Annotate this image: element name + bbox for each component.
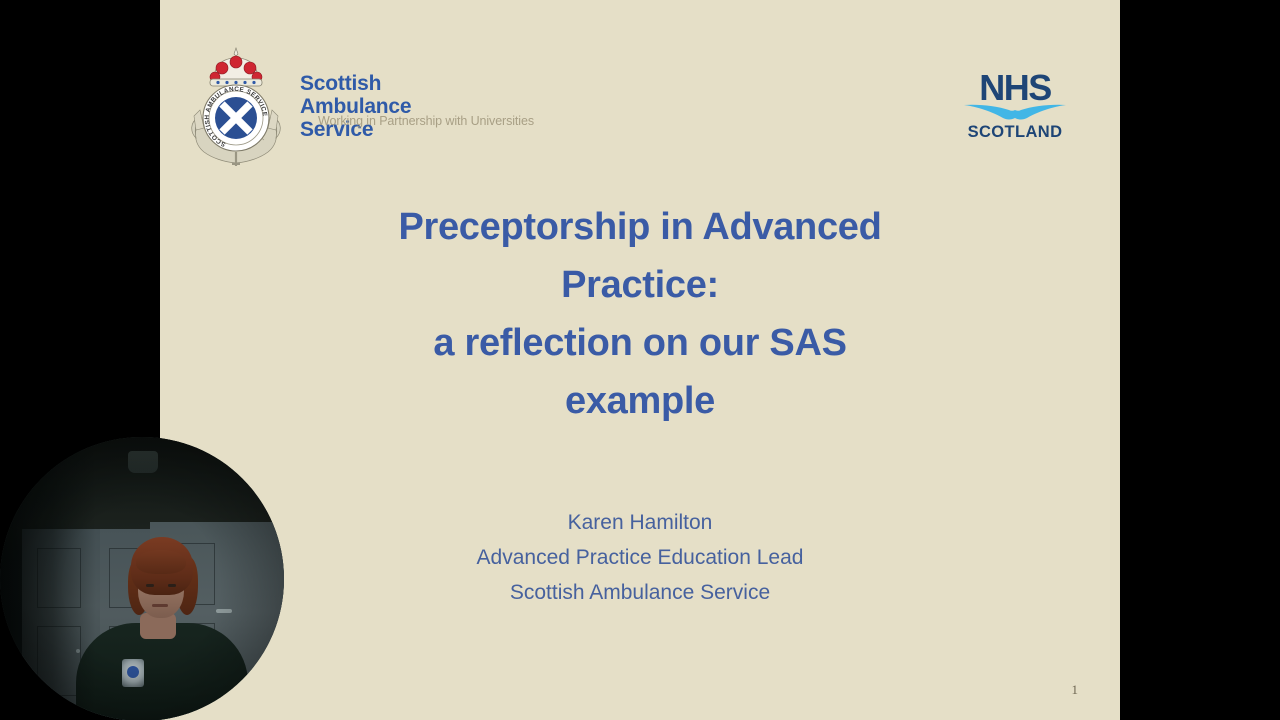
slide-title-line-1: Preceptorship in Advanced xyxy=(220,198,1060,256)
nhs-letters: NHS xyxy=(960,70,1070,106)
nhs-scotland-label: SCOTLAND xyxy=(960,123,1070,141)
slide-title-line-4: example xyxy=(220,372,1060,430)
slide-page-number: 1 xyxy=(1072,682,1079,698)
sas-partnership-tagline: Working in Partnership with Universities xyxy=(318,114,534,128)
presenter-name: Karen Hamilton xyxy=(220,505,1060,540)
sas-wordmark-line-1: Scottish xyxy=(300,72,411,95)
presenter-eye-right xyxy=(168,584,176,587)
sas-crest-icon: SCOTTISH AMBULANCE SERVICE xyxy=(188,44,284,168)
video-player-stage: SCOTTISH AMBULANCE SERVICE xyxy=(0,0,1280,720)
uniform-badge-saltire xyxy=(127,666,139,678)
presenter-fringe xyxy=(136,550,186,574)
slide-title-line-2: Practice: xyxy=(220,256,1060,314)
nhs-scotland-logo: NHS SCOTLAND xyxy=(960,70,1070,150)
slide-title: Preceptorship in Advanced Practice: a re… xyxy=(220,198,1060,430)
presenter-organisation: Scottish Ambulance Service xyxy=(220,575,1060,610)
presenter-role: Advanced Practice Education Lead xyxy=(220,540,1060,575)
slide-title-line-3: a reflection on our SAS xyxy=(220,314,1060,372)
slide-logo-bar: SCOTTISH AMBULANCE SERVICE xyxy=(160,0,1120,190)
presenter-figure xyxy=(0,437,284,720)
sas-wordmark: Scottish Ambulance Service xyxy=(300,72,411,141)
presenter-video-feed[interactable] xyxy=(0,437,284,720)
presenter-mouth xyxy=(152,604,168,607)
webcam-room-background xyxy=(0,437,284,720)
presentation-slide: SCOTTISH AMBULANCE SERVICE xyxy=(160,0,1120,720)
scottish-ambulance-service-logo: SCOTTISH AMBULANCE SERVICE xyxy=(188,44,411,168)
presenter-details: Karen Hamilton Advanced Practice Educati… xyxy=(220,505,1060,610)
presenter-eye-left xyxy=(146,584,154,587)
